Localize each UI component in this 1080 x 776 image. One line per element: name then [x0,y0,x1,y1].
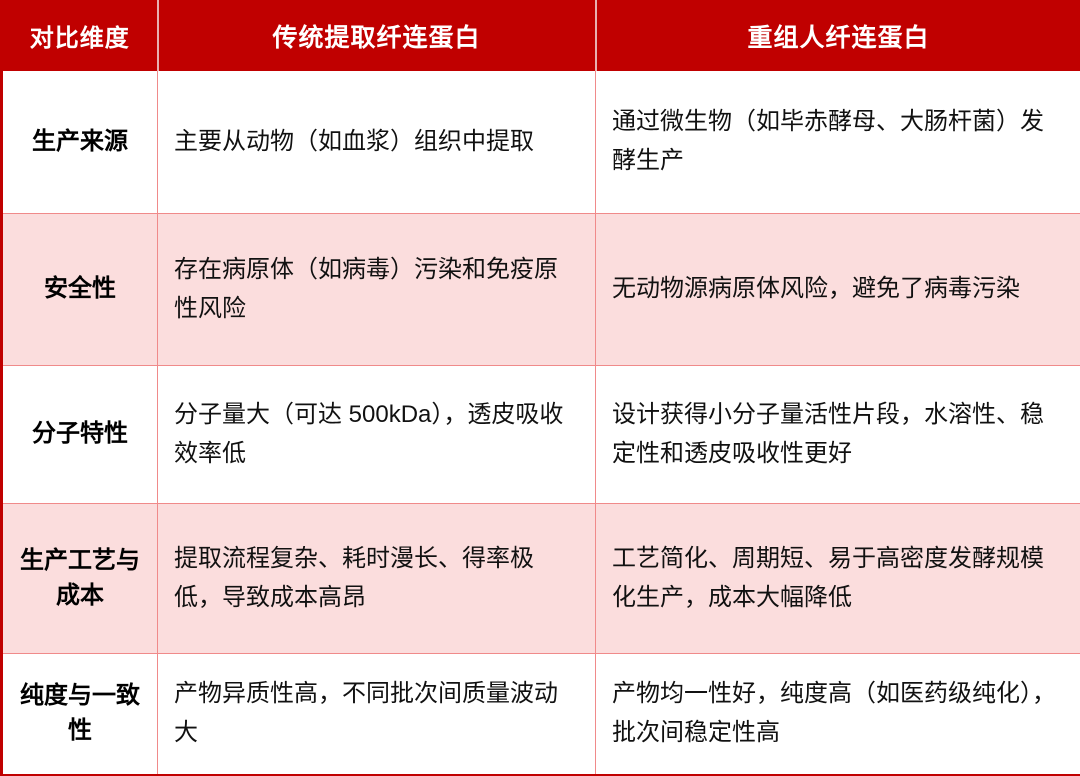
table-header: 对比维度 传统提取纤连蛋白 重组人纤连蛋白 [2,1,1080,71]
row-traditional-value: 存在病原体（如病毒）污染和免疫原性风险 [158,214,596,366]
header-cell-recombinant: 重组人纤连蛋白 [596,1,1080,71]
table-row: 分子特性 分子量大（可达 500kDa），透皮吸收效率低 设计获得小分子量活性片… [2,366,1080,504]
row-dimension-label: 纯度与一致性 [2,654,158,775]
row-dimension-label: 生产来源 [2,71,158,214]
row-recombinant-value: 设计获得小分子量活性片段，水溶性、稳定性和透皮吸收性更好 [596,366,1080,504]
fibronectin-comparison-table: 对比维度 传统提取纤连蛋白 重组人纤连蛋白 生产来源 主要从动物（如血浆）组织中… [0,0,1080,776]
row-traditional-value: 提取流程复杂、耗时漫长、得率极低，导致成本高昂 [158,504,596,654]
table-row: 生产工艺与成本 提取流程复杂、耗时漫长、得率极低，导致成本高昂 工艺简化、周期短… [2,504,1080,654]
table-row: 纯度与一致性 产物异质性高，不同批次间质量波动大 产物均一性好，纯度高（如医药级… [2,654,1080,775]
row-traditional-value: 产物异质性高，不同批次间质量波动大 [158,654,596,775]
table-row: 生产来源 主要从动物（如血浆）组织中提取 通过微生物（如毕赤酵母、大肠杆菌）发酵… [2,71,1080,214]
header-cell-traditional: 传统提取纤连蛋白 [158,1,596,71]
row-traditional-value: 分子量大（可达 500kDa），透皮吸收效率低 [158,366,596,504]
header-cell-dimension: 对比维度 [2,1,158,71]
row-dimension-label: 安全性 [2,214,158,366]
row-recombinant-value: 工艺简化、周期短、易于高密度发酵规模化生产，成本大幅降低 [596,504,1080,654]
row-dimension-label: 分子特性 [2,366,158,504]
row-dimension-label: 生产工艺与成本 [2,504,158,654]
header-row: 对比维度 传统提取纤连蛋白 重组人纤连蛋白 [2,1,1080,71]
row-recombinant-value: 无动物源病原体风险，避免了病毒污染 [596,214,1080,366]
row-traditional-value: 主要从动物（如血浆）组织中提取 [158,71,596,214]
table-row: 安全性 存在病原体（如病毒）污染和免疫原性风险 无动物源病原体风险，避免了病毒污… [2,214,1080,366]
row-recombinant-value: 通过微生物（如毕赤酵母、大肠杆菌）发酵生产 [596,71,1080,214]
table-body: 生产来源 主要从动物（如血浆）组织中提取 通过微生物（如毕赤酵母、大肠杆菌）发酵… [2,71,1080,775]
row-recombinant-value: 产物均一性好，纯度高（如医药级纯化），批次间稳定性高 [596,654,1080,775]
